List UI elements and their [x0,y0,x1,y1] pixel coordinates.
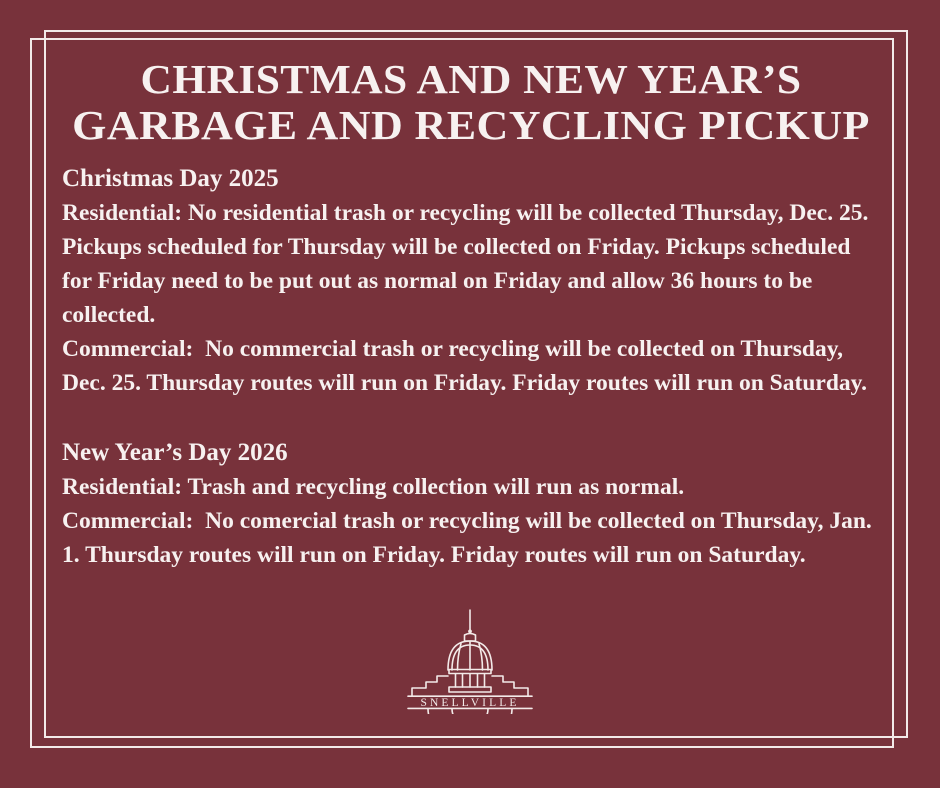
section-heading-christmas: Christmas Day 2025 [62,162,880,196]
christmas-commercial-paragraph: Commercial: No commercial trash or recyc… [62,332,880,400]
section-christmas-day: Christmas Day 2025 Residential: No resid… [62,162,880,400]
section-new-years-day: New Year’s Day 2026 Residential: Trash a… [62,436,880,572]
page-title-line-1: CHRISTMAS AND NEW YEAR’S [37,56,904,102]
page-title-line-2: GARBAGE AND RECYCLING PICKUP [37,102,904,148]
garbage-pickup-notice-poster: CHRISTMAS AND NEW YEAR’S GARBAGE AND REC… [0,0,940,788]
snellville-city-seal-icon: SNELLVILLE [404,608,536,714]
christmas-residential-paragraph: Residential: No residential trash or rec… [62,196,880,332]
poster-content: CHRISTMAS AND NEW YEAR’S GARBAGE AND REC… [62,56,880,572]
newyears-residential-paragraph: Residential: Trash and recycling collect… [62,470,880,504]
section-heading-new-years: New Year’s Day 2026 [62,436,880,470]
page-title: CHRISTMAS AND NEW YEAR’S GARBAGE AND REC… [37,56,904,148]
newyears-commercial-paragraph: Commercial: No comercial trash or recycl… [62,504,880,572]
city-seal-container: SNELLVILLE [0,608,940,714]
city-seal-wordmark: SNELLVILLE [421,697,520,709]
